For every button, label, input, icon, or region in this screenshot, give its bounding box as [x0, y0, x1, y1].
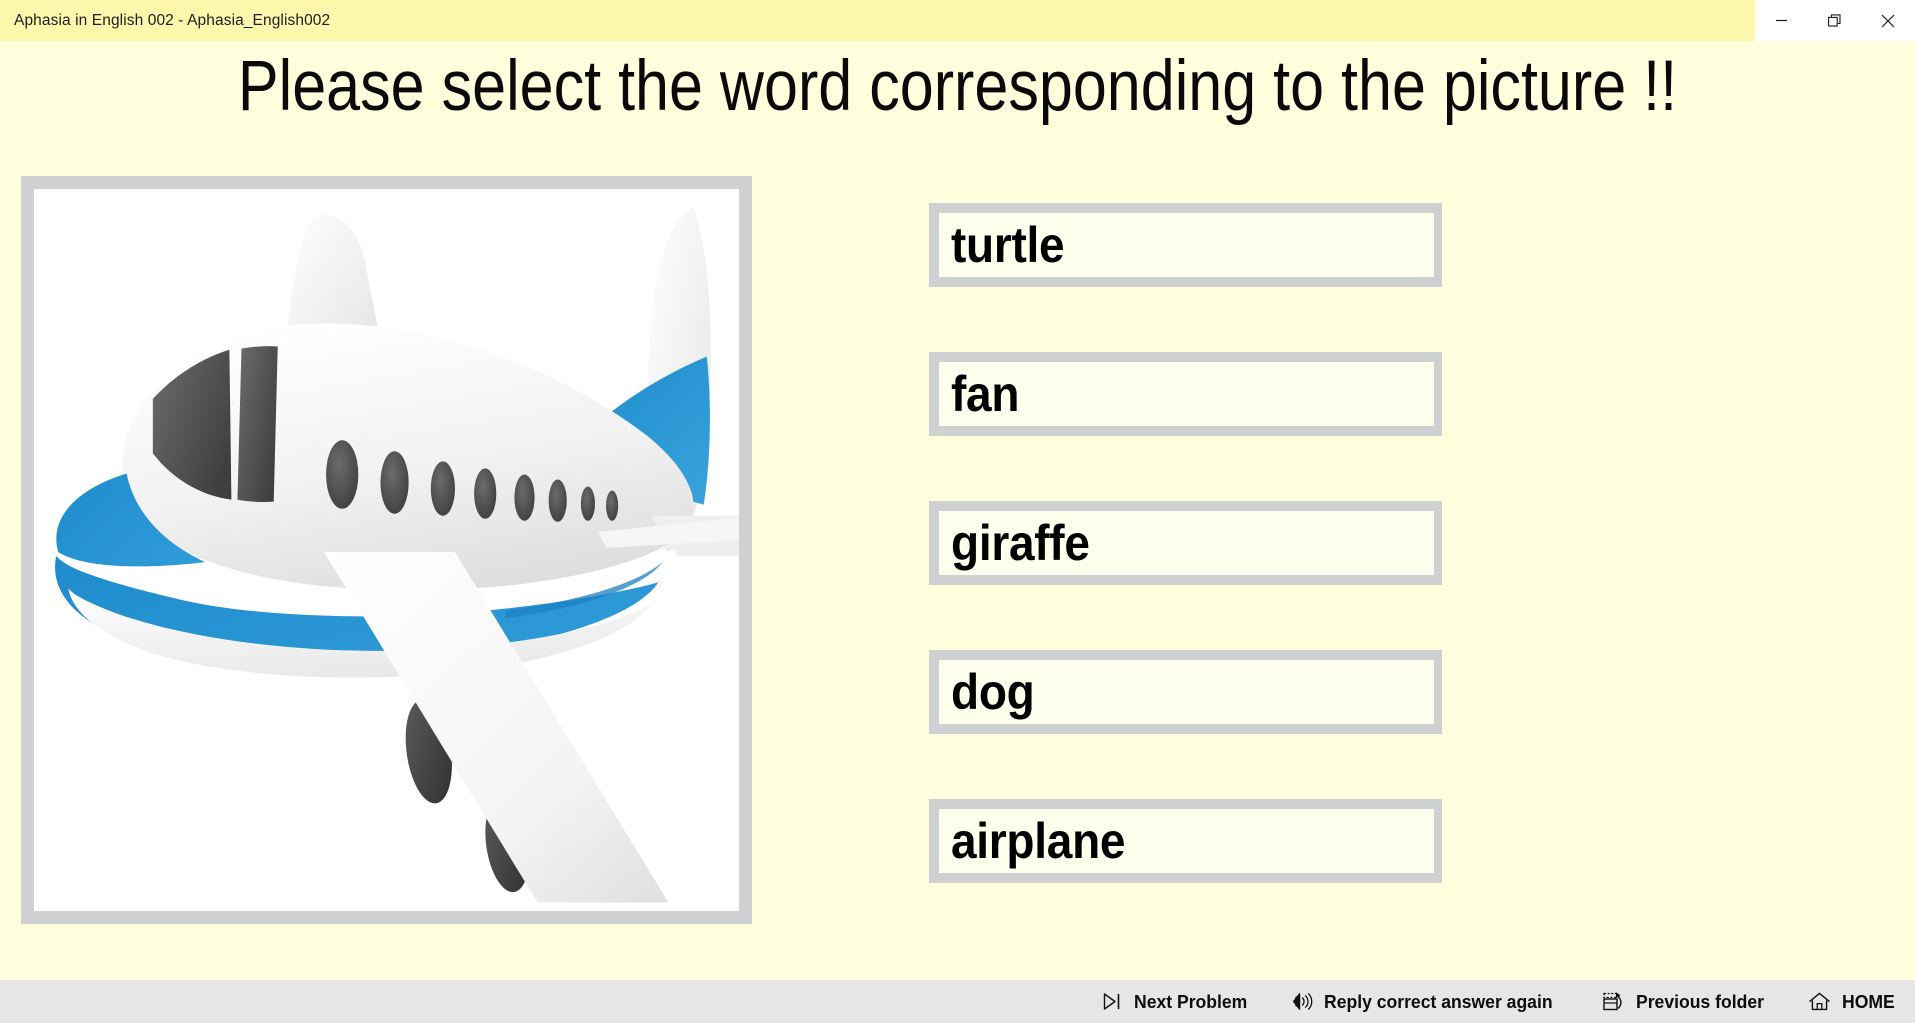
choice-turtle-button[interactable]: turtle — [929, 203, 1442, 287]
airplane-image — [34, 189, 739, 911]
title-bar: Aphasia in English 002 - Aphasia_English… — [0, 0, 1915, 41]
choice-fan-field[interactable]: fan — [939, 362, 1434, 426]
choice-dog-field[interactable]: dog — [939, 660, 1434, 724]
choice-airplane-label: airplane — [951, 815, 1125, 867]
choice-turtle-label: turtle — [951, 219, 1064, 271]
close-icon — [1881, 14, 1895, 28]
restore-window-icon — [1828, 14, 1842, 28]
window-controls — [1755, 0, 1915, 41]
choice-airplane-field[interactable]: airplane — [939, 809, 1434, 873]
speaker-icon — [1289, 989, 1315, 1015]
choice-turtle-field[interactable]: turtle — [939, 213, 1434, 277]
next-problem-icon — [1099, 989, 1125, 1015]
title-bar-drag-region[interactable]: Aphasia in English 002 - Aphasia_English… — [0, 0, 1755, 41]
reply-answer-label: Reply correct answer again — [1324, 991, 1553, 1013]
close-button[interactable] — [1861, 0, 1914, 41]
choice-fan-label: fan — [951, 368, 1019, 420]
choice-list: turtle fan giraffe dog airplane — [929, 203, 1442, 883]
picture-frame — [21, 176, 752, 924]
minimize-button[interactable] — [1755, 0, 1808, 41]
picture-canvas — [34, 189, 739, 911]
choice-giraffe-field[interactable]: giraffe — [939, 511, 1434, 575]
choice-dog-label: dog — [951, 666, 1034, 718]
choice-airplane-button[interactable]: airplane — [929, 799, 1442, 883]
page-title: Please select the word corresponding to … — [134, 47, 1781, 127]
choice-giraffe-button[interactable]: giraffe — [929, 501, 1442, 585]
previous-folder-button[interactable]: Previous folder — [1601, 980, 1771, 1023]
minimize-icon — [1775, 14, 1788, 27]
home-label: HOME — [1842, 991, 1895, 1013]
reply-answer-button[interactable]: Reply correct answer again — [1289, 980, 1565, 1023]
bottom-toolbar: Next Problem Reply correct answer again — [0, 980, 1915, 1023]
maximize-button[interactable] — [1808, 0, 1861, 41]
choice-giraffe-label: giraffe — [951, 517, 1090, 569]
home-icon — [1807, 989, 1833, 1015]
next-problem-button[interactable]: Next Problem — [1099, 980, 1253, 1023]
application-window: Aphasia in English 002 - Aphasia_English… — [0, 0, 1915, 1023]
next-problem-label: Next Problem — [1134, 991, 1247, 1013]
window-title: Aphasia in English 002 - Aphasia_English… — [14, 12, 330, 30]
previous-folder-label: Previous folder — [1636, 991, 1764, 1013]
choice-dog-button[interactable]: dog — [929, 650, 1442, 734]
home-button[interactable]: HOME — [1807, 980, 1898, 1023]
choice-fan-button[interactable]: fan — [929, 352, 1442, 436]
previous-folder-icon — [1601, 989, 1627, 1015]
